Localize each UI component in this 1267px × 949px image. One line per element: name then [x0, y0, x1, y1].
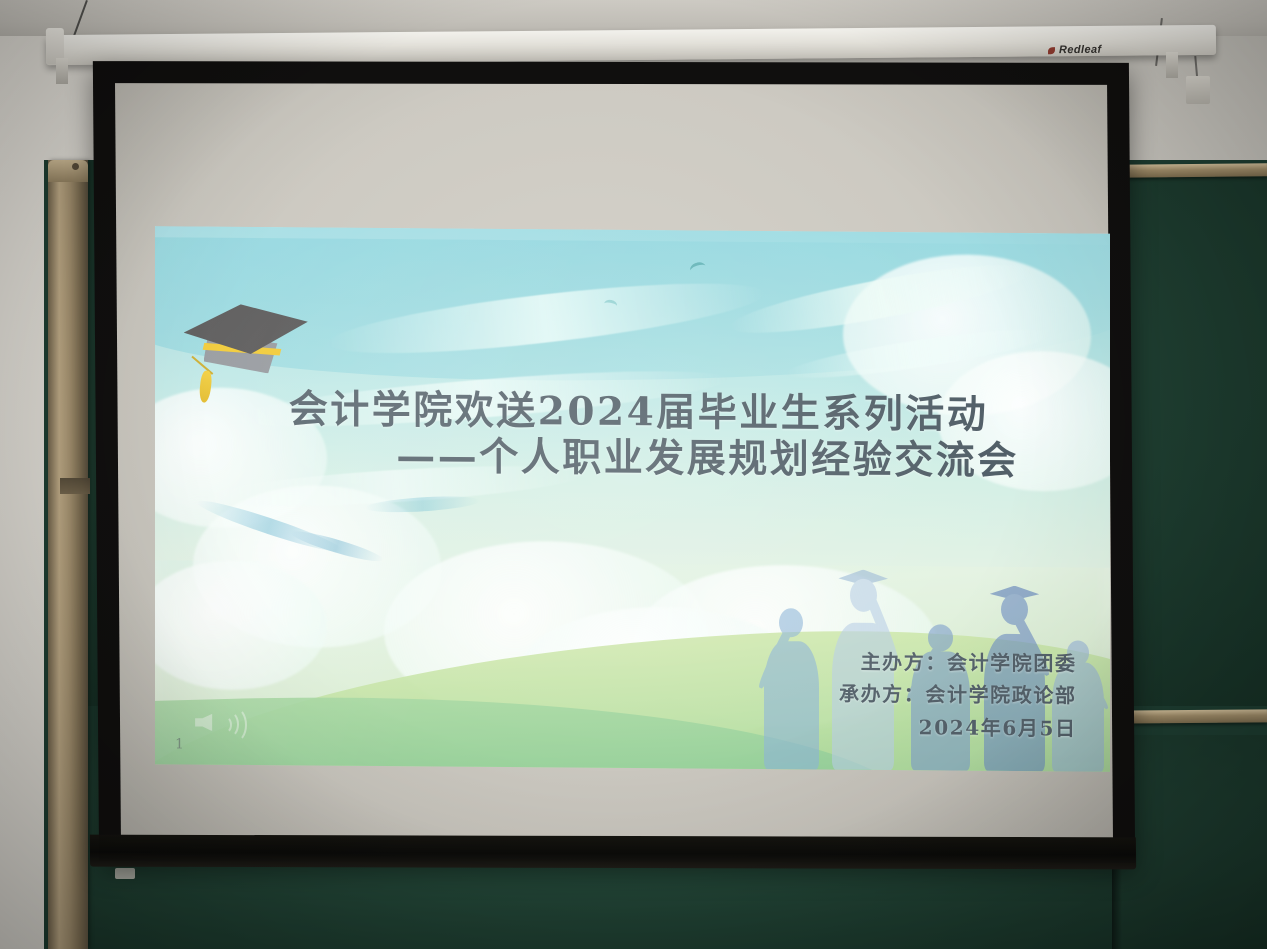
- redleaf-logo-icon: [1048, 47, 1055, 54]
- housing-bracket-right: [1166, 52, 1178, 78]
- organizer-line: 主办方：会计学院团委: [839, 646, 1077, 680]
- chalkboard-left-cap: [48, 160, 88, 182]
- chalkboard-left-post: [48, 160, 88, 949]
- cap-board: [184, 304, 308, 354]
- projection-screen-bottom-bar[interactable]: [90, 835, 1136, 870]
- presentation-slide[interactable]: 会计学院欢送2024届毕业生系列活动 ——个人职业发展规划经验交流会 主办方：会…: [155, 226, 1110, 772]
- brand-text: Redleaf: [1059, 44, 1102, 56]
- host-line: 承办方：会计学院政论部: [839, 678, 1077, 712]
- slide-credits-block: 主办方：会计学院团委 承办方：会计学院政论部 2024年6月5日: [839, 646, 1077, 745]
- slide-page-number: 1: [175, 737, 184, 753]
- graduation-cap-icon: [184, 280, 308, 389]
- classroom-scene: Redleaf: [0, 0, 1267, 949]
- graduate-silhouette: [764, 575, 819, 770]
- speaker-wave: [222, 707, 247, 743]
- screen-brand-label: Redleaf: [1048, 44, 1102, 56]
- date-line: 2024年6月5日: [839, 710, 1077, 744]
- speaker-icon[interactable]: [195, 704, 237, 740]
- housing-bracket-left: [56, 58, 68, 84]
- wall-plate: [1186, 76, 1210, 104]
- chalkboard-bottom-clip: [115, 868, 135, 879]
- chalkboard-rail-middle: [1112, 709, 1267, 723]
- chalkboard-rail-top: [1116, 163, 1267, 178]
- chalkboard-bolt: [72, 163, 79, 170]
- chalkboard-clip: [60, 478, 90, 494]
- speaker-body: [195, 714, 217, 731]
